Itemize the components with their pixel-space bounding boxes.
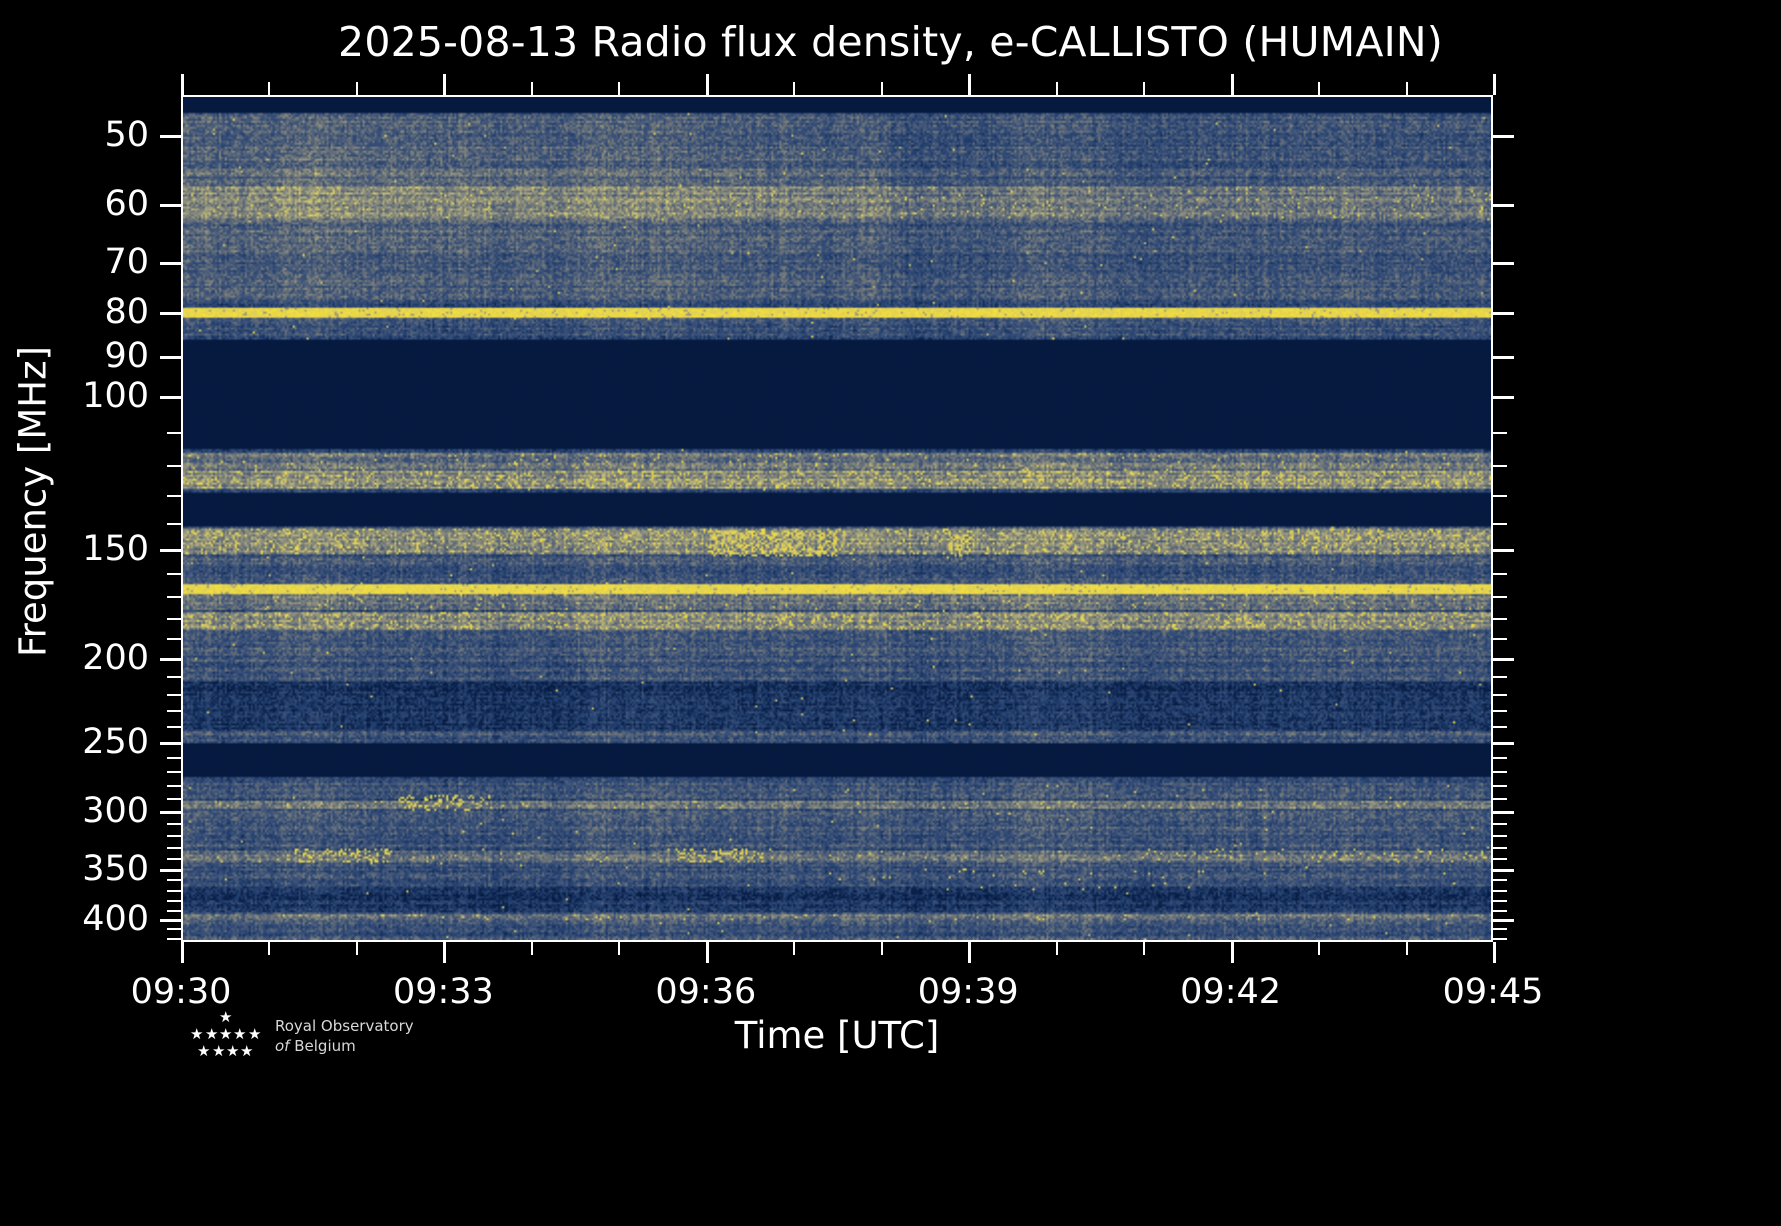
y-minor-tick-right-360	[1493, 879, 1507, 881]
x-tick-top-09-36	[706, 74, 709, 95]
y-tick-right-250	[1493, 742, 1514, 745]
y-tick-50	[160, 135, 181, 138]
x-minor-tick-09-37	[793, 942, 795, 955]
x-minor-tick-top-09-44	[1406, 82, 1408, 95]
y-tick-right-80	[1493, 312, 1514, 315]
y-minor-tick-right-260	[1493, 757, 1507, 759]
y-tick-right-350	[1493, 869, 1514, 872]
y-tick-350	[160, 869, 181, 872]
x-tick-09-30	[181, 942, 184, 963]
y-tick-300	[160, 811, 181, 814]
y-tick-80	[160, 312, 181, 315]
y-minor-tick-right-220	[1493, 694, 1507, 696]
y-minor-tick-right-270	[1493, 771, 1507, 773]
y-tick-label-300: 300	[82, 791, 149, 831]
logo-of-word: of	[275, 1037, 289, 1055]
y-minor-tick-360	[167, 879, 181, 881]
y-minor-tick-390	[167, 910, 181, 912]
royal-observatory-logo: ★★★★★★★★★★ Royal Observatory of Belgium	[178, 1008, 414, 1064]
page-title: 2025-08-13 Radio flux density, e-CALLIST…	[0, 18, 1781, 66]
y-minor-tick-right-130	[1493, 495, 1507, 497]
logo-line-1: Royal Observatory	[275, 1016, 414, 1036]
star-icon-3: ★	[205, 1027, 218, 1042]
eu-stars-icon: ★★★★★★★★★★	[178, 1008, 264, 1064]
y-tick-150	[160, 549, 181, 552]
x-tick-label-09-45: 09:45	[1443, 972, 1544, 1012]
y-minor-tick-260	[167, 757, 181, 759]
x-tick-label-09-36: 09:36	[655, 972, 756, 1012]
x-tick-top-09-33	[443, 74, 446, 95]
y-tick-right-400	[1493, 919, 1514, 922]
y-minor-tick-right-420	[1493, 938, 1507, 940]
y-minor-tick-right-140	[1493, 523, 1507, 525]
x-tick-top-09-39	[968, 74, 971, 95]
x-minor-tick-top-09-38	[881, 82, 883, 95]
y-tick-70	[160, 262, 181, 265]
y-minor-tick-230	[167, 710, 181, 712]
y-tick-label-200: 200	[82, 638, 149, 678]
x-tick-label-09-42: 09:42	[1180, 972, 1281, 1012]
x-tick-top-09-42	[1231, 74, 1234, 95]
y-minor-tick-right-320	[1493, 835, 1507, 837]
logo-belgium-word: Belgium	[289, 1037, 355, 1055]
x-tick-label-09-39: 09:39	[918, 972, 1019, 1012]
y-minor-tick-320	[167, 835, 181, 837]
y-minor-tick-right-280	[1493, 785, 1507, 787]
star-icon-4: ★	[219, 1027, 232, 1042]
y-tick-90	[160, 356, 181, 359]
y-minor-tick-240	[167, 726, 181, 728]
x-minor-tick-09-40	[1056, 942, 1058, 955]
y-minor-tick-220	[167, 694, 181, 696]
y-tick-label-400: 400	[82, 899, 149, 939]
y-minor-tick-right-340	[1493, 858, 1507, 860]
x-tick-label-09-33: 09:33	[393, 972, 494, 1012]
y-minor-tick-170	[167, 596, 181, 598]
star-icon-5: ★	[233, 1027, 246, 1042]
y-minor-tick-right-240	[1493, 726, 1507, 728]
x-minor-tick-top-09-31	[268, 82, 270, 95]
y-minor-tick-right-310	[1493, 823, 1507, 825]
x-minor-tick-top-09-32	[356, 82, 358, 95]
y-minor-tick-410	[167, 928, 181, 930]
star-icon-10: ★	[240, 1044, 253, 1059]
star-icon-2: ★	[190, 1027, 203, 1042]
x-minor-tick-09-43	[1318, 942, 1320, 955]
y-minor-tick-right-190	[1493, 638, 1507, 640]
figure-root: 2025-08-13 Radio flux density, e-CALLIST…	[0, 0, 1781, 1226]
x-tick-label-09-30: 09:30	[131, 972, 232, 1012]
y-minor-tick-160	[167, 573, 181, 575]
y-minor-tick-290	[167, 798, 181, 800]
star-icon-8: ★	[212, 1044, 225, 1059]
x-tick-09-39	[968, 942, 971, 963]
y-tick-right-90	[1493, 356, 1514, 359]
x-minor-tick-top-09-37	[793, 82, 795, 95]
y-tick-label-250: 250	[82, 722, 149, 762]
x-minor-tick-top-09-35	[618, 82, 620, 95]
y-tick-right-50	[1493, 135, 1514, 138]
y-minor-tick-340	[167, 858, 181, 860]
y-tick-60	[160, 204, 181, 207]
x-minor-tick-09-41	[1143, 942, 1145, 955]
y-minor-tick-right-110	[1493, 432, 1507, 434]
y-tick-100	[160, 396, 181, 399]
y-tick-400	[160, 919, 181, 922]
x-tick-09-33	[443, 942, 446, 963]
y-axis-title: Frequency [MHz]	[12, 152, 55, 852]
y-minor-tick-right-380	[1493, 900, 1507, 902]
star-icon-1: ★	[219, 1010, 232, 1025]
y-minor-tick-120	[167, 465, 181, 467]
y-minor-tick-380	[167, 900, 181, 902]
x-tick-09-42	[1231, 942, 1234, 963]
x-minor-tick-09-35	[618, 942, 620, 955]
y-tick-label-70: 70	[104, 242, 149, 282]
y-minor-tick-right-330	[1493, 847, 1507, 849]
y-minor-tick-270	[167, 771, 181, 773]
x-minor-tick-top-09-40	[1056, 82, 1058, 95]
y-tick-label-350: 350	[82, 849, 149, 889]
y-tick-label-150: 150	[82, 529, 149, 569]
y-tick-label-90: 90	[104, 336, 149, 376]
y-minor-tick-right-160	[1493, 573, 1507, 575]
logo-line-2: of Belgium	[275, 1036, 414, 1056]
y-tick-right-300	[1493, 811, 1514, 814]
y-tick-right-70	[1493, 262, 1514, 265]
x-minor-tick-09-34	[531, 942, 533, 955]
x-minor-tick-top-09-34	[531, 82, 533, 95]
star-icon-9: ★	[226, 1044, 239, 1059]
y-minor-tick-370	[167, 890, 181, 892]
x-tick-09-36	[706, 942, 709, 963]
y-tick-right-200	[1493, 658, 1514, 661]
y-minor-tick-130	[167, 495, 181, 497]
y-minor-tick-right-290	[1493, 798, 1507, 800]
y-tick-right-150	[1493, 549, 1514, 552]
y-minor-tick-right-180	[1493, 618, 1507, 620]
spectrogram-image	[183, 97, 1491, 940]
x-minor-tick-top-09-41	[1143, 82, 1145, 95]
x-minor-tick-09-44	[1406, 942, 1408, 955]
spectrogram-plot-area	[181, 95, 1493, 942]
y-tick-right-60	[1493, 204, 1514, 207]
y-minor-tick-140	[167, 523, 181, 525]
y-minor-tick-right-210	[1493, 676, 1507, 678]
y-tick-200	[160, 658, 181, 661]
y-minor-tick-right-230	[1493, 710, 1507, 712]
y-minor-tick-right-410	[1493, 928, 1507, 930]
x-minor-tick-09-31	[268, 942, 270, 955]
logo-text: Royal Observatory of Belgium	[275, 1016, 414, 1057]
y-tick-250	[160, 742, 181, 745]
x-minor-tick-09-32	[356, 942, 358, 955]
y-minor-tick-330	[167, 847, 181, 849]
x-tick-top-09-30	[181, 74, 184, 95]
x-tick-09-45	[1493, 942, 1496, 963]
y-minor-tick-420	[167, 938, 181, 940]
y-minor-tick-right-170	[1493, 596, 1507, 598]
y-minor-tick-190	[167, 638, 181, 640]
y-minor-tick-right-370	[1493, 890, 1507, 892]
y-minor-tick-210	[167, 676, 181, 678]
x-minor-tick-top-09-43	[1318, 82, 1320, 95]
y-tick-right-100	[1493, 396, 1514, 399]
x-tick-top-09-45	[1493, 74, 1496, 95]
y-tick-label-60: 60	[104, 184, 149, 224]
y-minor-tick-310	[167, 823, 181, 825]
y-minor-tick-right-120	[1493, 465, 1507, 467]
y-minor-tick-280	[167, 785, 181, 787]
y-tick-label-50: 50	[104, 115, 149, 155]
x-minor-tick-09-38	[881, 942, 883, 955]
star-icon-7: ★	[197, 1044, 210, 1059]
y-minor-tick-right-390	[1493, 910, 1507, 912]
y-tick-label-80: 80	[104, 292, 149, 332]
star-icon-6: ★	[248, 1027, 261, 1042]
y-minor-tick-110	[167, 432, 181, 434]
y-tick-label-100: 100	[82, 376, 149, 416]
y-minor-tick-180	[167, 618, 181, 620]
